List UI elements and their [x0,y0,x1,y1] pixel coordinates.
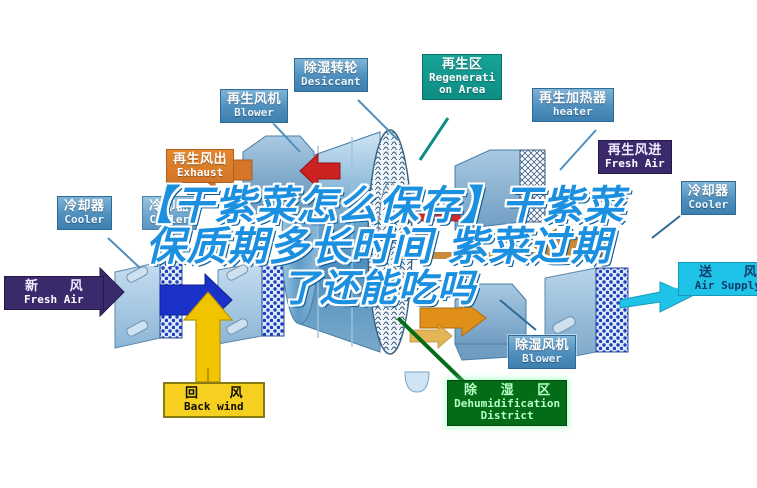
callout-dehumidification-district-cn: 除 湿 区 [454,383,560,398]
callout-desiccant-wheel: 除湿转轮 Desiccant [294,58,368,92]
callout-fresh-air-inlet-cn: 新 风 [11,279,97,294]
callout-regeneration-heater-cn: 再生加热器 [539,91,607,106]
diagram-canvas: XT [0,0,757,488]
callout-air-supply-cn: 送 风 [685,265,757,280]
callout-regeneration-heater-en: heater [539,106,607,118]
callout-fresh-air-inlet: 新 风 Fresh Air [4,276,104,310]
callout-desiccant-wheel-en: Desiccant [301,76,361,88]
callout-regeneration-exhaust: 再生风出 Exhaust [166,149,234,183]
callout-dehumidification-blower-en: Blower [515,353,569,365]
callout-regeneration-exhaust-cn: 再生风出 [173,152,227,167]
callout-dehumidification-blower-cn: 除湿风机 [515,338,569,353]
condensate-drip [405,372,429,392]
callout-cooler-right-en: Cooler [688,199,729,211]
callout-regeneration-exhaust-en: Exhaust [173,167,227,179]
callout-cooler-hidden-cn: 冷却器 [149,199,190,214]
callout-regeneration-blower: 再生风机 Blower [220,89,288,123]
svg-text:XT: XT [322,320,336,333]
callout-desiccant-wheel-cn: 除湿转轮 [301,61,361,76]
callout-regeneration-heater: 再生加热器 heater [532,88,614,122]
callout-dehumidification-blower: 除湿风机 Blower [508,335,576,369]
callout-dehumidification-district-en1: Dehumidification [454,398,560,410]
dehumidifier-schematic: XT [0,0,757,488]
callout-cooler-left-cn: 冷却器 [64,199,105,214]
callout-dehumidification-district-en2: District [454,410,560,422]
callout-regeneration-area-en2: on Area [429,84,495,96]
regen-inlet-arrow [402,229,610,263]
callout-cooler-right-cn: 冷却器 [688,184,729,199]
callout-regeneration-blower-en: Blower [227,107,281,119]
regeneration-blower-unit [243,136,314,214]
callout-regeneration-fresh-air-en: Fresh Air [605,158,665,170]
callout-regeneration-fresh-air-cn: 再生风进 [605,143,665,158]
callout-cooler-hidden-en: Cooler [149,214,190,226]
callout-regeneration-area-en1: Regenerati [429,72,495,84]
callout-regeneration-blower-cn: 再生风机 [227,92,281,107]
callout-regeneration-area: 再生区 Regenerati on Area [422,54,502,100]
callout-fresh-air-inlet-en: Fresh Air [11,294,97,306]
callout-air-supply-en: Air Supply [685,280,757,292]
callout-cooler-left-en: Cooler [64,214,105,226]
callout-regeneration-area-cn: 再生区 [429,57,495,72]
callout-back-wind-en: Back wind [171,401,257,413]
callout-cooler-hidden: 冷却器 Cooler [142,196,197,230]
callout-cooler-right: 冷却器 Cooler [681,181,736,215]
callout-back-wind: 回 风 Back wind [163,382,265,418]
callout-back-wind-cn: 回 风 [171,386,257,401]
callout-dehumidification-district: 除 湿 区 Dehumidification District [447,380,567,426]
callout-air-supply: 送 风 Air Supply [678,262,757,296]
callout-cooler-left: 冷却器 Cooler [57,196,112,230]
regeneration-heater-unit [400,150,545,230]
callout-regeneration-fresh-air: 再生风进 Fresh Air [598,140,672,174]
